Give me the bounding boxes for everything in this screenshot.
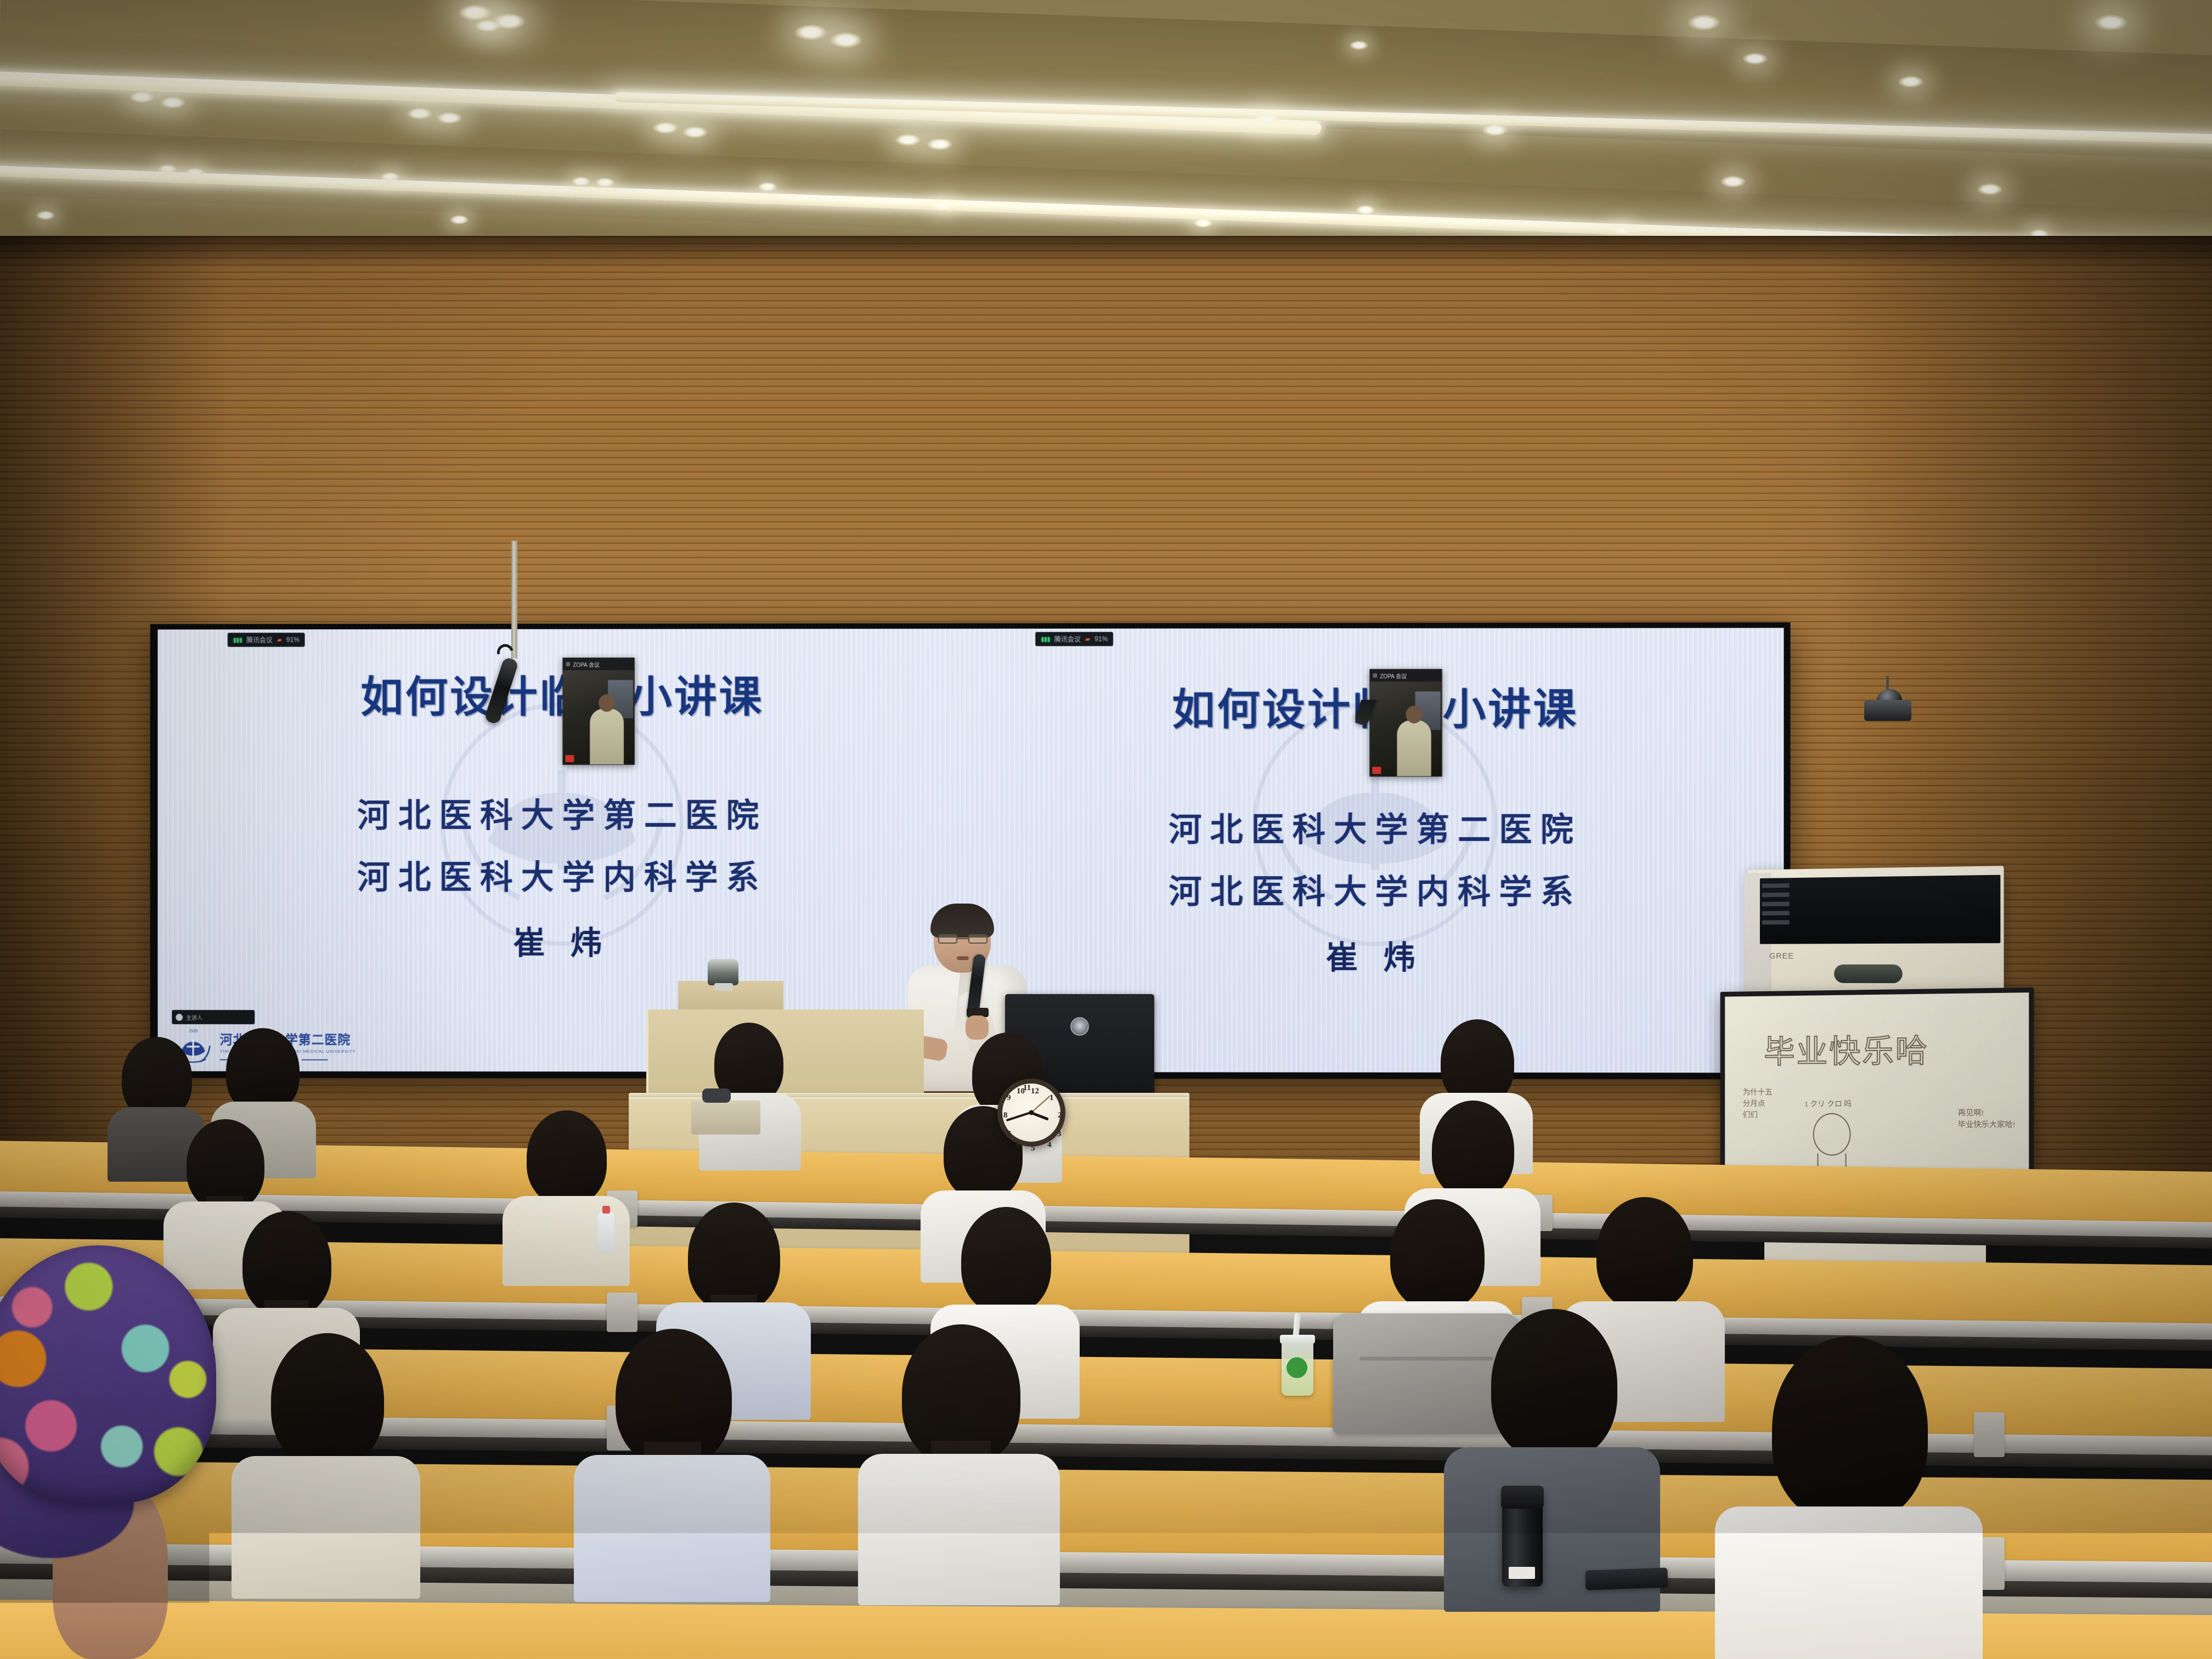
audience-person xyxy=(244,1333,408,1591)
clock-center-pin xyxy=(1029,1110,1034,1115)
bubble-tea-cup xyxy=(1282,1339,1313,1396)
camera-body xyxy=(1864,700,1911,721)
ceiling xyxy=(0,0,2212,258)
glasses-lens-right xyxy=(968,934,988,944)
clock-numeral: 1 xyxy=(1049,1093,1054,1103)
clock-minute-hand xyxy=(1006,1111,1032,1121)
clock-numeral: 4 xyxy=(1047,1141,1052,1150)
person-head xyxy=(961,1207,1051,1313)
black-thermos xyxy=(1502,1488,1543,1587)
hanging-shotgun-mic-right xyxy=(1383,560,1404,730)
video-pip-thumbnail[interactable]: ZOPA 会议 xyxy=(562,658,635,765)
ceiling-downlight xyxy=(682,126,708,138)
ceiling-downlight xyxy=(1720,176,1746,188)
ceiling-downlight xyxy=(437,112,462,124)
clock-numeral: 9 xyxy=(1007,1093,1011,1103)
pip-participant-figure xyxy=(590,708,624,764)
pip-recording-indicator xyxy=(1372,767,1381,774)
person-head xyxy=(1441,1019,1514,1105)
presenter-mouth xyxy=(957,956,969,960)
ceiling-downlight xyxy=(160,97,185,109)
ceiling-downlight xyxy=(475,20,500,32)
ceiling-downlight xyxy=(1194,218,1212,228)
person-torso xyxy=(1715,1506,1983,1659)
meeting-status-bar[interactable]: ▮▮▮ 腾讯会议 ▰ 91% xyxy=(228,633,305,647)
smartphone xyxy=(1585,1567,1668,1590)
person-head xyxy=(1491,1309,1617,1460)
control-box xyxy=(691,1101,760,1135)
battery-label: 91% xyxy=(286,636,300,644)
person-head xyxy=(1390,1199,1485,1310)
presenter-glasses xyxy=(938,934,988,944)
ceiling-downlight xyxy=(1350,41,1368,50)
audience-person xyxy=(872,1324,1047,1596)
ceiling-downlight xyxy=(1742,53,1768,65)
glasses-bridge xyxy=(957,938,968,939)
ceiling-downlight xyxy=(596,178,614,187)
clock-numeral: 5 xyxy=(1031,1144,1035,1153)
ceiling-downlight xyxy=(1254,113,1279,125)
hanging-shotgun-mic-left xyxy=(511,541,533,722)
person-head xyxy=(527,1110,607,1205)
ceiling-downlight xyxy=(653,122,678,134)
battery-icon: ▰ xyxy=(1085,635,1090,643)
ceiling-downlight xyxy=(2095,14,2128,31)
pip-participant-label: ZOPA 会议 xyxy=(573,660,600,668)
clock-numeral: 11 xyxy=(1023,1084,1031,1093)
ceiling-downlight xyxy=(36,211,55,220)
ceiling-downlight xyxy=(185,168,204,177)
ceiling-downlight xyxy=(1356,205,1375,215)
clock-numeral: 7 xyxy=(1007,1130,1011,1139)
person-torso xyxy=(574,1455,770,1602)
ceiling-downlight xyxy=(1898,76,1923,88)
camera-icon xyxy=(566,662,570,667)
audience-person xyxy=(1734,1336,1964,1659)
pip-recording-indicator xyxy=(565,755,574,762)
rail-bracket xyxy=(1974,1412,2005,1457)
clock-numeral: 6 xyxy=(1015,1141,1020,1150)
audience-person xyxy=(587,1329,757,1594)
ceiling-downlight xyxy=(758,182,777,191)
ceiling-downlight xyxy=(927,138,952,150)
slide-affiliation-1: 河北医科大学第二医院 xyxy=(357,789,767,837)
audience-person xyxy=(510,1110,623,1284)
signal-icon: ▮▮▮ xyxy=(233,636,242,644)
mic-pole xyxy=(511,541,517,658)
ceiling-band xyxy=(0,0,2212,163)
rail-bracket xyxy=(607,1293,637,1332)
ceiling-downlight xyxy=(895,134,921,146)
person-head xyxy=(1772,1336,1928,1523)
ceiling-downlight xyxy=(1977,183,2002,195)
pip-video xyxy=(1370,681,1442,776)
cup-lid xyxy=(1280,1335,1315,1344)
ceiling-downlight xyxy=(381,172,399,182)
podium-camera-icon xyxy=(708,959,738,985)
pip-header: ZOPA 会议 xyxy=(563,658,634,670)
clock-numeral: 3 xyxy=(1057,1130,1062,1139)
wall-clock: 12 1 2 3 4 5 6 7 8 9 10 11 xyxy=(997,1079,1065,1147)
person-torso xyxy=(232,1456,420,1599)
ceiling-downlight xyxy=(830,32,862,48)
ceiling-downlight xyxy=(1613,225,1632,234)
ceiling-downlight xyxy=(1688,14,1720,31)
signal-icon: ▮▮▮ xyxy=(1041,635,1050,643)
battery-label: 91% xyxy=(1094,635,1108,643)
lecture-hall-photo: 如何设计临床小讲课 河北医科大学第二医院 河北医科大学内科学系 崔 炜 主讲人 … xyxy=(0,0,2212,1659)
mic-pole xyxy=(1383,560,1389,664)
cup-brand-logo xyxy=(1286,1357,1307,1378)
person-head xyxy=(1432,1101,1514,1198)
ceiling-downlight xyxy=(129,91,155,103)
meeting-label: 腾讯会议 xyxy=(1054,634,1081,644)
audience-seating xyxy=(0,1125,2212,1659)
ceiling-downlight xyxy=(1482,124,1508,136)
slide-affiliation-1: 河北医科大学第二医院 xyxy=(1169,803,1582,851)
battery-icon: ▰ xyxy=(277,636,282,644)
clock-numeral: 12 xyxy=(1031,1087,1039,1096)
ceiling-downlight xyxy=(407,108,432,120)
clock-numeral: 2 xyxy=(1058,1111,1062,1120)
glasses-lens-left xyxy=(938,934,957,944)
presenter-hair xyxy=(930,904,994,938)
ceiling-downlight xyxy=(572,177,590,186)
ptz-camera-icon xyxy=(1864,689,1911,721)
clock-second-hand xyxy=(1031,1096,1050,1113)
person-head xyxy=(271,1333,384,1467)
ceiling-downlight xyxy=(934,201,952,210)
camera-stem xyxy=(1886,676,1889,690)
person-torso xyxy=(858,1454,1060,1605)
audience-person xyxy=(1459,1309,1646,1605)
ceiling-downlight xyxy=(450,215,469,224)
ceiling-downlight xyxy=(459,4,492,21)
meeting-status-bar[interactable]: ▮▮▮ 腾讯会议 ▰ 91% xyxy=(1035,632,1113,646)
ceiling-downlight xyxy=(794,24,827,41)
thermos-label xyxy=(1509,1567,1535,1579)
thermos-cap xyxy=(1501,1486,1544,1509)
meeting-label: 腾讯会议 xyxy=(246,635,273,645)
pip-video xyxy=(563,670,634,764)
person-head xyxy=(226,1028,300,1114)
water-bottle xyxy=(598,1212,614,1253)
person-head xyxy=(1596,1197,1693,1310)
ceiling-downlight xyxy=(158,165,177,174)
